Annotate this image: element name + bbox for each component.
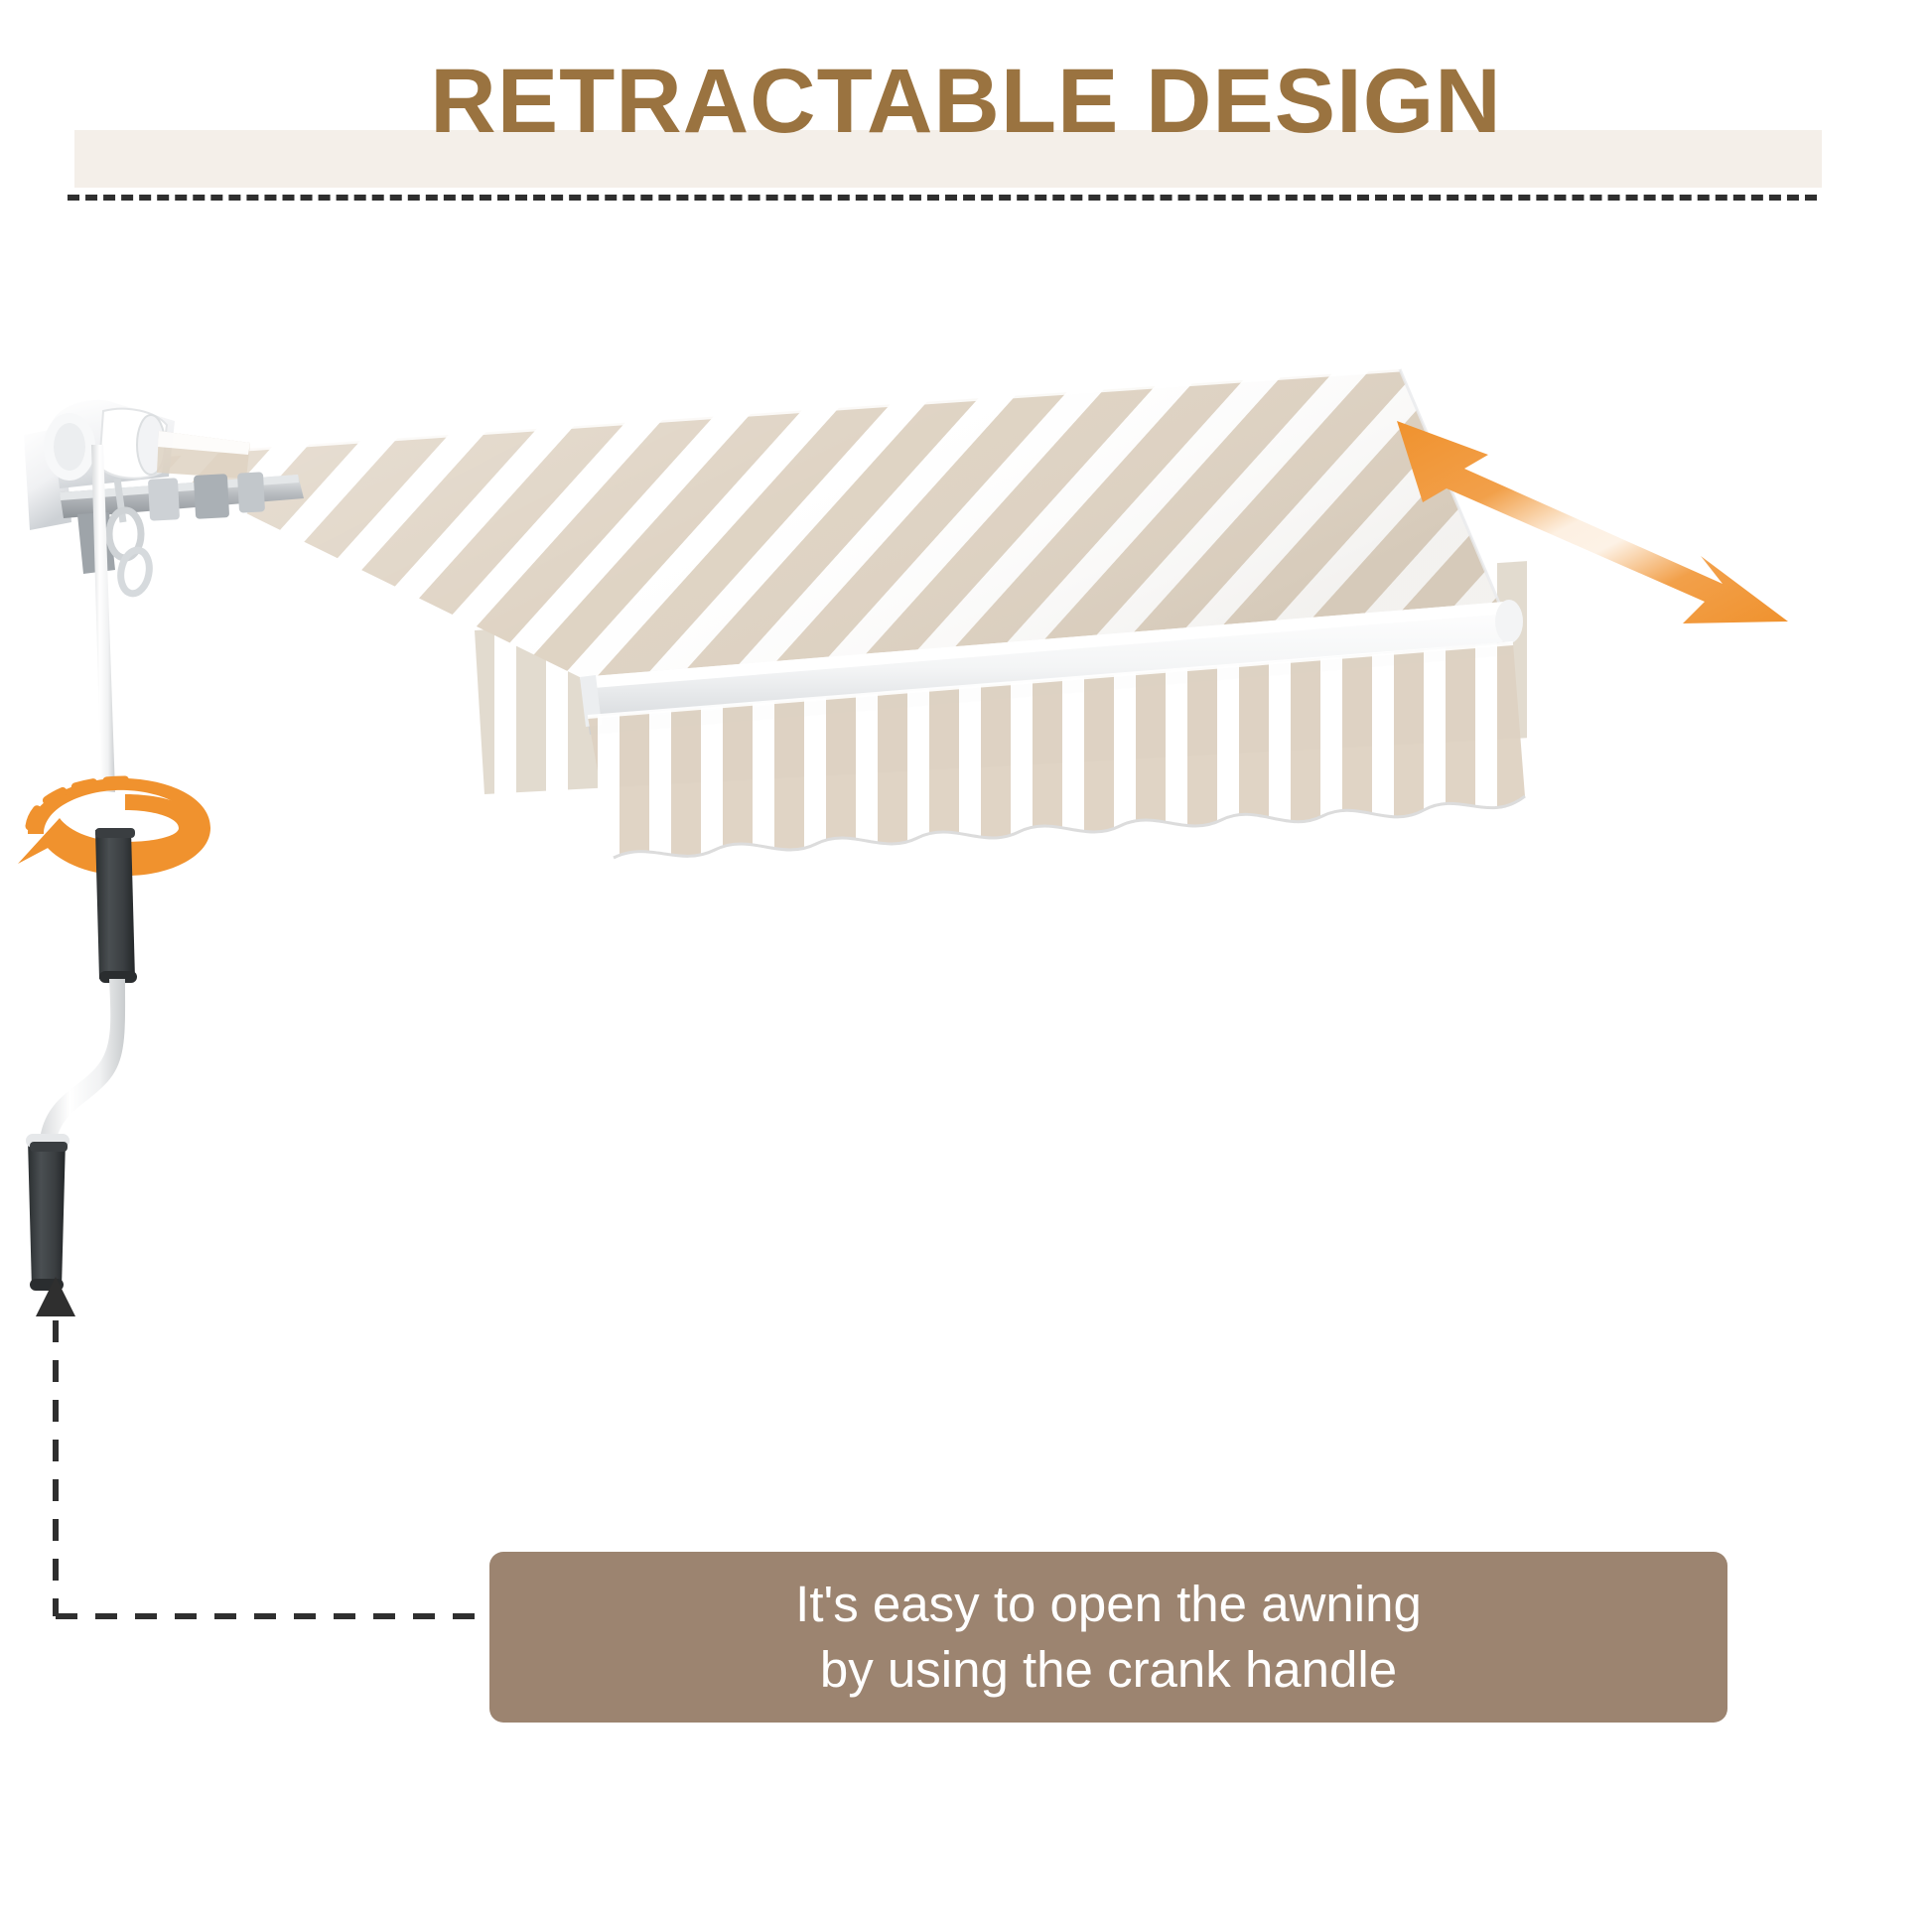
caption-line-2: by using the crank handle [820, 1637, 1397, 1703]
leader-arrowhead-icon [36, 1277, 75, 1316]
crank-grip-upper [95, 828, 137, 983]
caption-leader-line [0, 1231, 556, 1688]
extend-retract-arrow [1385, 397, 1802, 675]
double-arrow-shape [1397, 421, 1788, 623]
caption-line-1: It's easy to open the awning [795, 1572, 1422, 1637]
header-divider-dashed-line [68, 195, 1817, 201]
crank-rod-upper [91, 445, 115, 792]
crank-handle [0, 397, 357, 1330]
page-title: RETRACTABLE DESIGN [0, 52, 1932, 151]
caption-box: It's easy to open the awning by using th… [489, 1552, 1727, 1723]
crank-rod-bend [40, 979, 125, 1142]
